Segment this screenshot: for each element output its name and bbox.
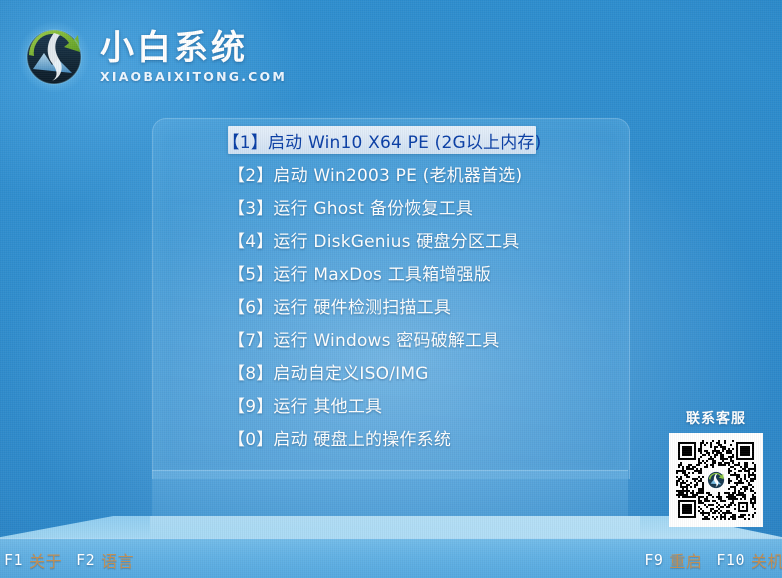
footer-key-f10[interactable]: F10关机 — [716, 548, 782, 572]
menu-item-7[interactable]: 【7】运行 Windows 密码破解工具 — [152, 324, 628, 352]
footer-key-label: 关机 — [751, 548, 782, 572]
footer-key-f2[interactable]: F2语言 — [76, 548, 134, 572]
footer-key-f9[interactable]: F9重启 — [644, 548, 702, 572]
boot-menu-screen: 小白系统 XIAOBAIXITONG.COM 【1】启动 Win10 X64 P… — [0, 0, 782, 578]
footer-key-label: 重启 — [669, 548, 702, 572]
menu-item-6[interactable]: 【6】运行 硬件检测扫描工具 — [152, 291, 628, 319]
menu-item-4[interactable]: 【4】运行 DiskGenius 硬盘分区工具 — [152, 225, 628, 253]
boot-menu-list[interactable]: 【1】启动 Win10 X64 PE (2G以上内存)【2】启动 Win2003… — [152, 126, 628, 456]
footer-keys-right: F9重启F10关机 — [630, 548, 782, 572]
menu-item-1[interactable]: 【1】启动 Win10 X64 PE (2G以上内存) — [228, 126, 536, 154]
menu-item-2[interactable]: 【2】启动 Win2003 PE (老机器首选) — [152, 159, 628, 187]
footer-key-f1[interactable]: F1关于 — [4, 548, 62, 572]
footer-key-label: 语言 — [101, 548, 134, 572]
footer-keys-left: F1关于F2语言 — [4, 548, 148, 572]
contact-support-caption: 联系客服 — [664, 408, 768, 428]
footer-key-label: 关于 — [29, 548, 62, 572]
menu-item-0[interactable]: 【0】启动 硬盘上的操作系统 — [152, 423, 628, 451]
menu-item-3[interactable]: 【3】运行 Ghost 备份恢复工具 — [152, 192, 628, 220]
menu-item-5[interactable]: 【5】运行 MaxDos 工具箱增强版 — [152, 258, 628, 286]
qr-code-icon[interactable] — [669, 433, 763, 527]
menu-item-8[interactable]: 【8】启动自定义ISO/IMG — [152, 357, 628, 385]
qr-center-logo-icon — [705, 469, 727, 491]
refresh-globe-icon — [16, 19, 92, 95]
footer-key-name: F9 — [644, 551, 663, 569]
brand-logo: 小白系统 XIAOBAIXITONG.COM — [16, 14, 276, 100]
brand-title: 小白系统 — [100, 30, 287, 67]
footer-key-name: F10 — [716, 551, 745, 569]
footer-key-name: F1 — [4, 551, 23, 569]
contact-support-block: 联系客服 — [664, 408, 768, 527]
menu-item-9[interactable]: 【9】运行 其他工具 — [152, 390, 628, 418]
brand-subtitle: XIAOBAIXITONG.COM — [100, 69, 287, 84]
footer-key-name: F2 — [76, 551, 95, 569]
